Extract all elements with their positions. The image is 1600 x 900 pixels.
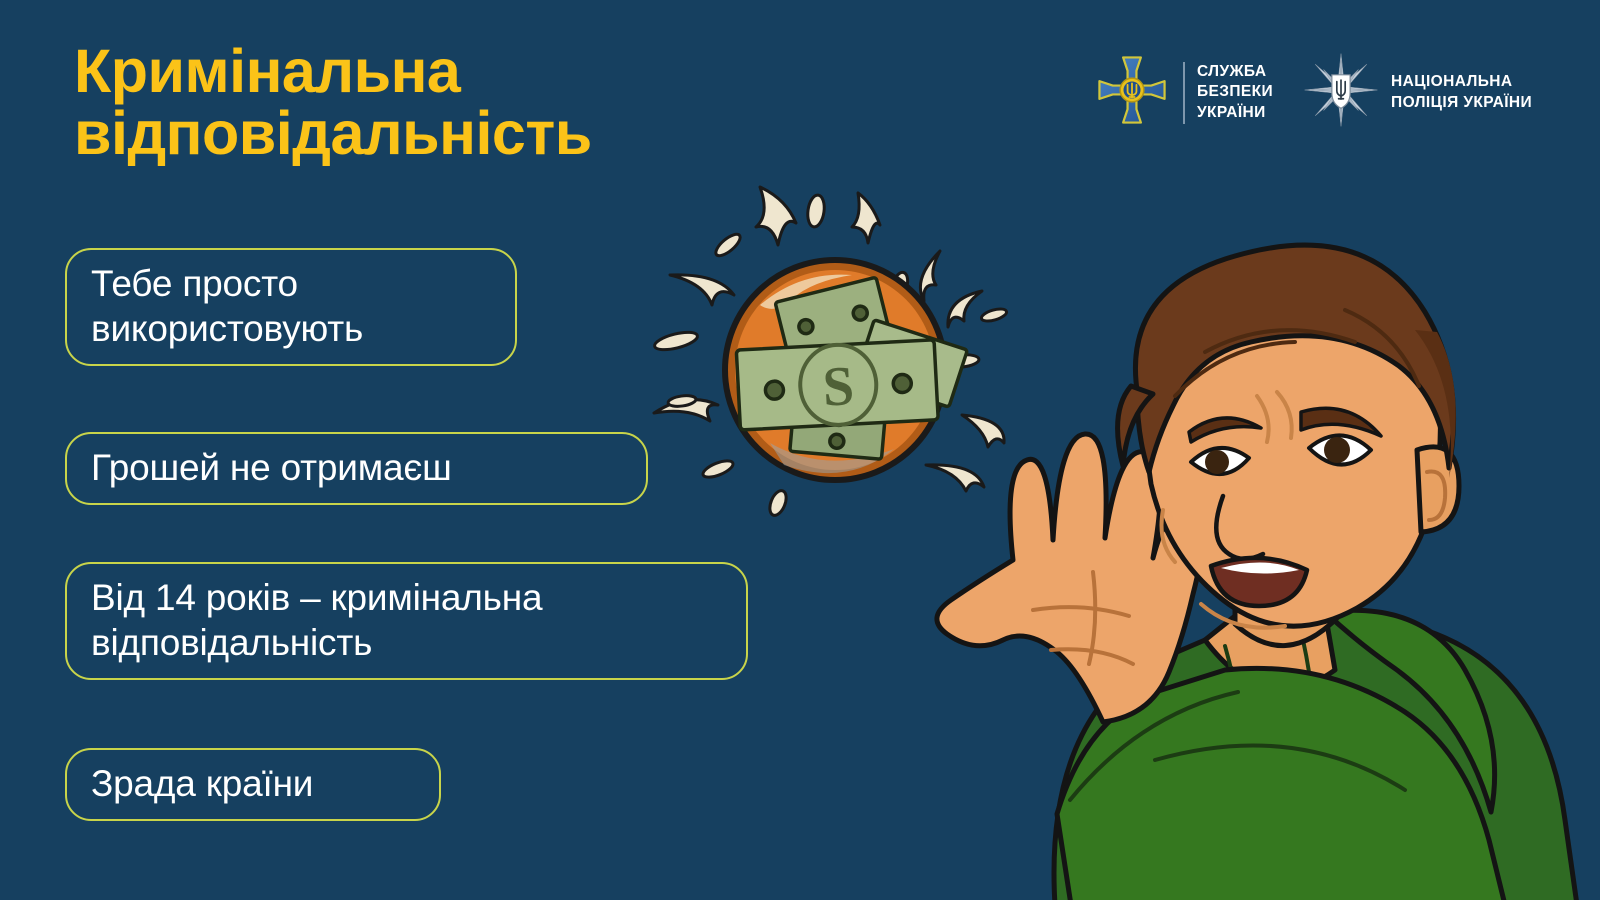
agency-logos: СЛУЖБА БЕЗПЕКИ УКРАЇНИ — [1095, 52, 1532, 133]
logo-national-police-label: НАЦІОНАЛЬНА ПОЛІЦІЯ УКРАЇНИ — [1391, 72, 1532, 113]
info-badge-treason: Зрада країни — [65, 748, 441, 821]
logo-divider — [1183, 62, 1185, 124]
svg-text:S: S — [821, 355, 855, 419]
logo-national-police: НАЦІОНАЛЬНА ПОЛІЦІЯ УКРАЇНИ — [1303, 52, 1532, 133]
page-title: Кримінальна відповідальність — [74, 40, 834, 164]
logo-sbu-label: СЛУЖБА БЕЗПЕКИ УКРАЇНИ — [1197, 62, 1273, 123]
police-star-emblem-icon — [1303, 52, 1379, 133]
logo-sbu: СЛУЖБА БЕЗПЕКИ УКРАЇНИ — [1095, 53, 1273, 132]
info-badge-age-14-liability: Від 14 років – кримінальна відповідальні… — [65, 562, 748, 680]
sbu-cross-emblem-icon — [1095, 53, 1169, 132]
info-badge-used: Тебе просто використовують — [65, 248, 517, 366]
info-badge-no-money: Грошей не отримаєш — [65, 432, 648, 505]
poster-canvas: Кримінальна відповідальність — [0, 0, 1600, 900]
worried-teen-boy-illustration — [905, 200, 1600, 900]
coin-with-dollar-bills-illustration: S — [610, 165, 1060, 565]
